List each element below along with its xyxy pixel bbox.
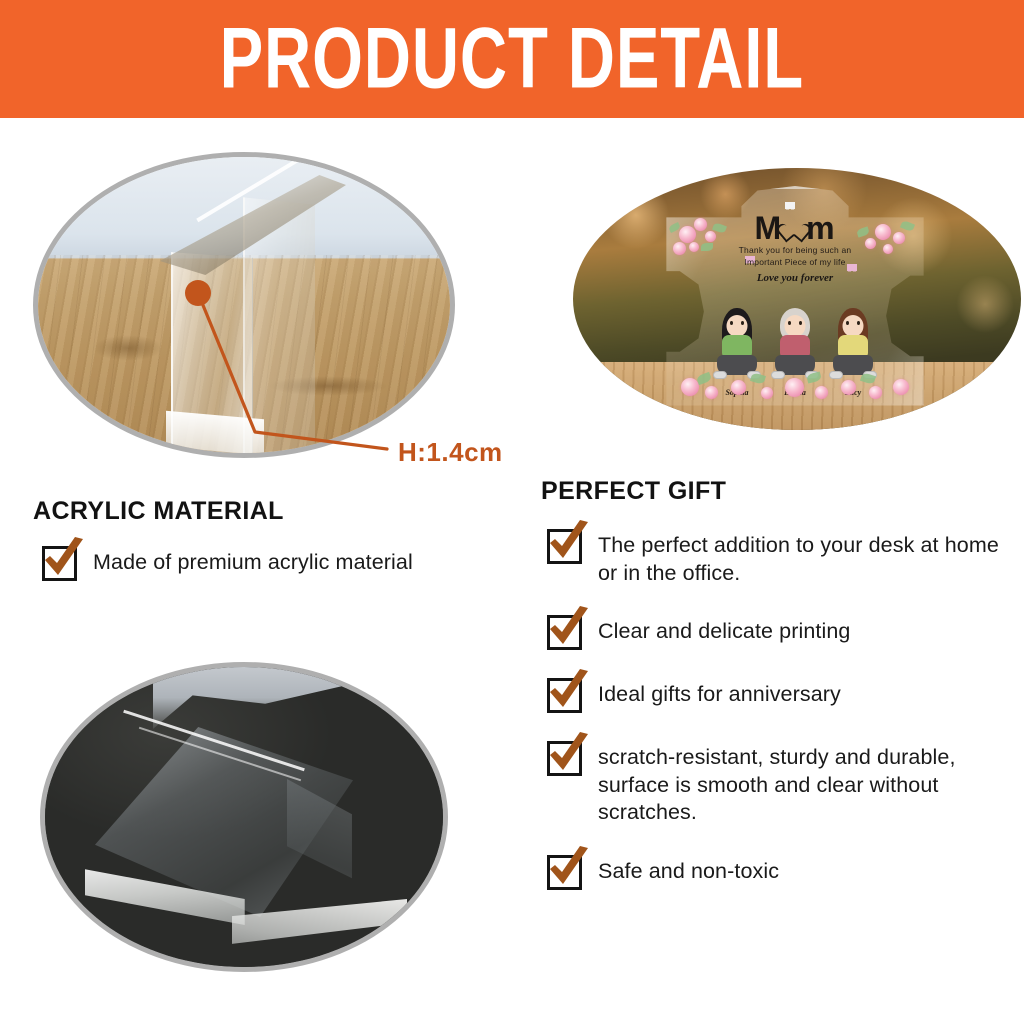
feature-text: scratch-resistant, sturdy and durable, s… <box>598 739 1002 827</box>
slate-surface-scene <box>45 667 443 967</box>
plaque-closing: Love you forever <box>661 272 929 284</box>
heart-icon <box>784 219 804 237</box>
feature-item: scratch-resistant, sturdy and durable, s… <box>547 739 1002 827</box>
feature-text: Safe and non-toxic <box>598 853 779 886</box>
shoe <box>771 371 785 379</box>
eye <box>799 321 802 325</box>
shoe <box>713 371 727 379</box>
plaque-characters: Sophia Emma <box>661 308 929 384</box>
flower <box>869 386 882 399</box>
eye <box>741 321 744 325</box>
feature-text: Ideal gifts for anniversary <box>598 676 841 709</box>
wood-table-scene <box>38 157 450 453</box>
eye <box>857 321 860 325</box>
feature-item: Made of premium acrylic material <box>42 544 512 581</box>
checkmark-icon <box>545 732 592 777</box>
wood-knot <box>93 335 163 361</box>
feature-item: Ideal gifts for anniversary <box>547 676 1002 713</box>
flower <box>761 387 773 399</box>
checkmark-icon <box>545 606 592 651</box>
checkmark-icon <box>40 537 87 582</box>
section-heading-acrylic-material: ACRYLIC MATERIAL <box>33 497 284 526</box>
checkbox-checked[interactable] <box>547 529 582 564</box>
flower <box>705 386 718 399</box>
flower <box>815 386 828 399</box>
checkbox-checked[interactable] <box>547 741 582 776</box>
checkbox-checked[interactable] <box>547 855 582 890</box>
plaque-message-line-2: Important Piece of my life <box>661 256 929 268</box>
flower <box>681 378 699 396</box>
feature-list-gift: The perfect addition to your desk at hom… <box>547 527 1002 916</box>
page-title: PRODUCT DETAIL <box>220 16 805 103</box>
feature-item: The perfect addition to your desk at hom… <box>547 527 1002 587</box>
callout-label: H:1.4cm <box>398 437 503 468</box>
plaque-message-line-1: Thank you for being such an <box>661 244 929 256</box>
slate-edge <box>153 662 448 729</box>
photo-acrylic-block <box>40 662 448 972</box>
eye <box>730 321 733 325</box>
butterfly-icon <box>785 202 795 210</box>
shirt <box>722 335 752 357</box>
section-heading-perfect-gift: PERFECT GIFT <box>541 477 726 506</box>
checkbox-checked[interactable] <box>42 546 77 581</box>
photo-acrylic-edge <box>33 152 455 458</box>
flower <box>731 380 746 395</box>
shirt <box>838 335 868 357</box>
character-3: Lucy <box>827 308 879 384</box>
face <box>843 315 864 337</box>
header-banner: PRODUCT DETAIL <box>0 0 1024 118</box>
plaque-title: M m <box>754 212 835 244</box>
face <box>785 315 806 337</box>
eye <box>846 321 849 325</box>
feature-item: Safe and non-toxic <box>547 853 1002 890</box>
feature-text: Clear and delicate printing <box>598 613 851 646</box>
shirt <box>780 335 810 357</box>
checkbox-checked[interactable] <box>547 678 582 713</box>
puzzle-piece-plaque: M m Thank you for being such an Importan… <box>661 186 929 410</box>
checkmark-icon <box>545 669 592 714</box>
product-detail-page: PRODUCT DETAIL <box>0 0 1024 1024</box>
plaque-text-block: M m Thank you for being such an Importan… <box>661 212 929 284</box>
flower <box>841 380 856 395</box>
eye <box>788 321 791 325</box>
face <box>727 315 748 337</box>
checkbox-checked[interactable] <box>547 615 582 650</box>
checkmark-icon <box>545 520 592 565</box>
flower <box>893 379 909 395</box>
checkmark-icon <box>545 846 592 891</box>
shoe <box>829 371 843 379</box>
feature-text: Made of premium acrylic material <box>93 544 413 577</box>
feature-item: Clear and delicate printing <box>547 613 1002 650</box>
feature-list-acrylic: Made of premium acrylic material <box>42 544 512 603</box>
flower <box>785 378 804 397</box>
photo-product-plaque: M m Thank you for being such an Importan… <box>573 168 1021 430</box>
feature-text: The perfect addition to your desk at hom… <box>598 527 1002 587</box>
